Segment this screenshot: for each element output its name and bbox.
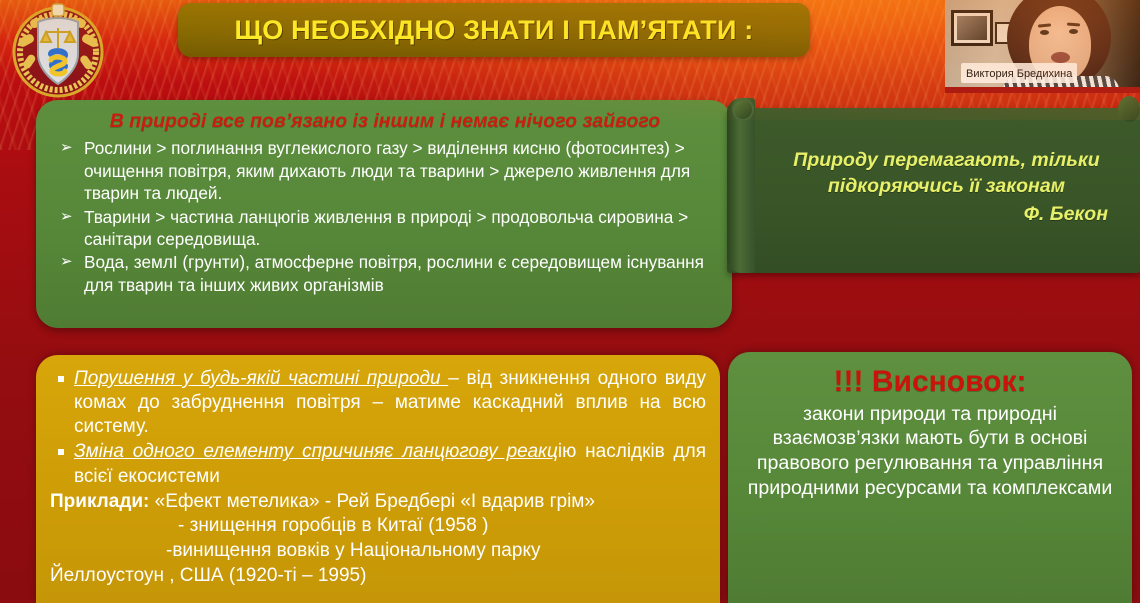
scroll-curl-left-icon — [727, 98, 755, 273]
nature-facts-panel: В природі все пов’язано із іншим і немає… — [36, 100, 732, 328]
square-bullet-icon — [58, 376, 64, 382]
quote-line-1: Природу перемагають, тільки — [771, 148, 1122, 174]
quote-body: Природу перемагають, тільки підкоряючись… — [727, 108, 1140, 226]
list-item: Порушення у будь-якій частині природи – … — [50, 367, 706, 439]
facts-list: ➢ Рослини > поглинання вуглекислого газу… — [54, 137, 716, 296]
consequences-list: Порушення у будь-якій частині природи – … — [50, 367, 706, 489]
speaker-eye-right — [1069, 29, 1078, 34]
example-third: -винищення вовків у Національному парку — [50, 539, 706, 564]
conclusion-body: закони природи та природні взаємозв’язки… — [740, 402, 1120, 501]
example-third-continued: Йеллоустоун , США (1920-ті – 1995) — [50, 565, 366, 586]
participant-name-label: Виктория Бредихина — [966, 68, 1072, 80]
consequences-examples-panel: Порушення у будь-якій частині природи – … — [36, 355, 720, 603]
webcam-bottom-bar — [945, 87, 1140, 93]
conclusion-panel: !!! Висновок: закони природи та природні… — [728, 352, 1132, 603]
page-title: ЩО НЕОБХІДНО ЗНАТИ І ПАМ’ЯТАТИ : — [234, 15, 753, 46]
quote-line-2: підкоряючись її законам — [771, 174, 1122, 200]
list-item: ➢ Рослини > поглинання вуглекислого газу… — [54, 137, 716, 204]
speaker-mouth — [1051, 52, 1070, 63]
list-item: ➢ Вода, землI (грунти), атмосферне повіт… — [54, 251, 716, 296]
wall-picture-large-icon — [951, 10, 993, 46]
examples-block: Приклади: «Ефект метелика» - Рей Бредбер… — [50, 490, 706, 589]
scroll-curl-right-icon — [1118, 96, 1140, 122]
example-main: «Ефект метелика» - Рей Бредбері «І вдари… — [155, 491, 595, 512]
conclusion-title: !!! Висновок: — [740, 366, 1120, 398]
facts-heading: В природі все пов’язано із іншим і немає… — [54, 110, 716, 132]
university-emblem-icon — [6, 2, 110, 98]
list-item-text: Рослини > поглинання вуглекислого газу >… — [84, 138, 690, 203]
list-item-text: Вода, землI (грунти), атмосферне повітря… — [84, 252, 704, 294]
quote-author: Ф. Бекон — [771, 203, 1122, 226]
list-item: Зміна одного елементу спричиняє ланцюгов… — [50, 440, 706, 488]
list-item: ➢ Тварини > частина ланцюгів живлення в … — [54, 206, 716, 251]
slide-canvas: ЩО НЕОБХІДНО ЗНАТИ І ПАМ’ЯТАТИ : Виктори… — [0, 0, 1140, 600]
list-item-emphasis: Порушення у будь-якій частині природи — [74, 368, 448, 389]
arrow-bullet-icon: ➢ — [60, 138, 73, 158]
examples-label: Приклади: — [50, 491, 149, 512]
bacon-quote-scroll: Природу перемагають, тільки підкоряючись… — [727, 108, 1140, 273]
arrow-bullet-icon: ➢ — [60, 207, 73, 227]
participant-name-badge: Виктория Бредихина — [961, 63, 1077, 83]
arrow-bullet-icon: ➢ — [60, 252, 73, 272]
example-second: - знищення горобців в Китаї (1958 ) — [50, 514, 706, 539]
slide-title-banner: ЩО НЕОБХІДНО ЗНАТИ І ПАМ’ЯТАТИ : — [178, 3, 810, 57]
list-item-emphasis: Зміна одного елементу спричиняє ланцюгов… — [74, 441, 558, 462]
list-item-text: Тварини > частина ланцюгів живлення в пр… — [84, 207, 688, 249]
webcam-video-overlay[interactable]: Виктория Бредихина — [945, 0, 1140, 93]
square-bullet-icon — [58, 449, 64, 455]
speaker-eye-left — [1040, 30, 1049, 35]
